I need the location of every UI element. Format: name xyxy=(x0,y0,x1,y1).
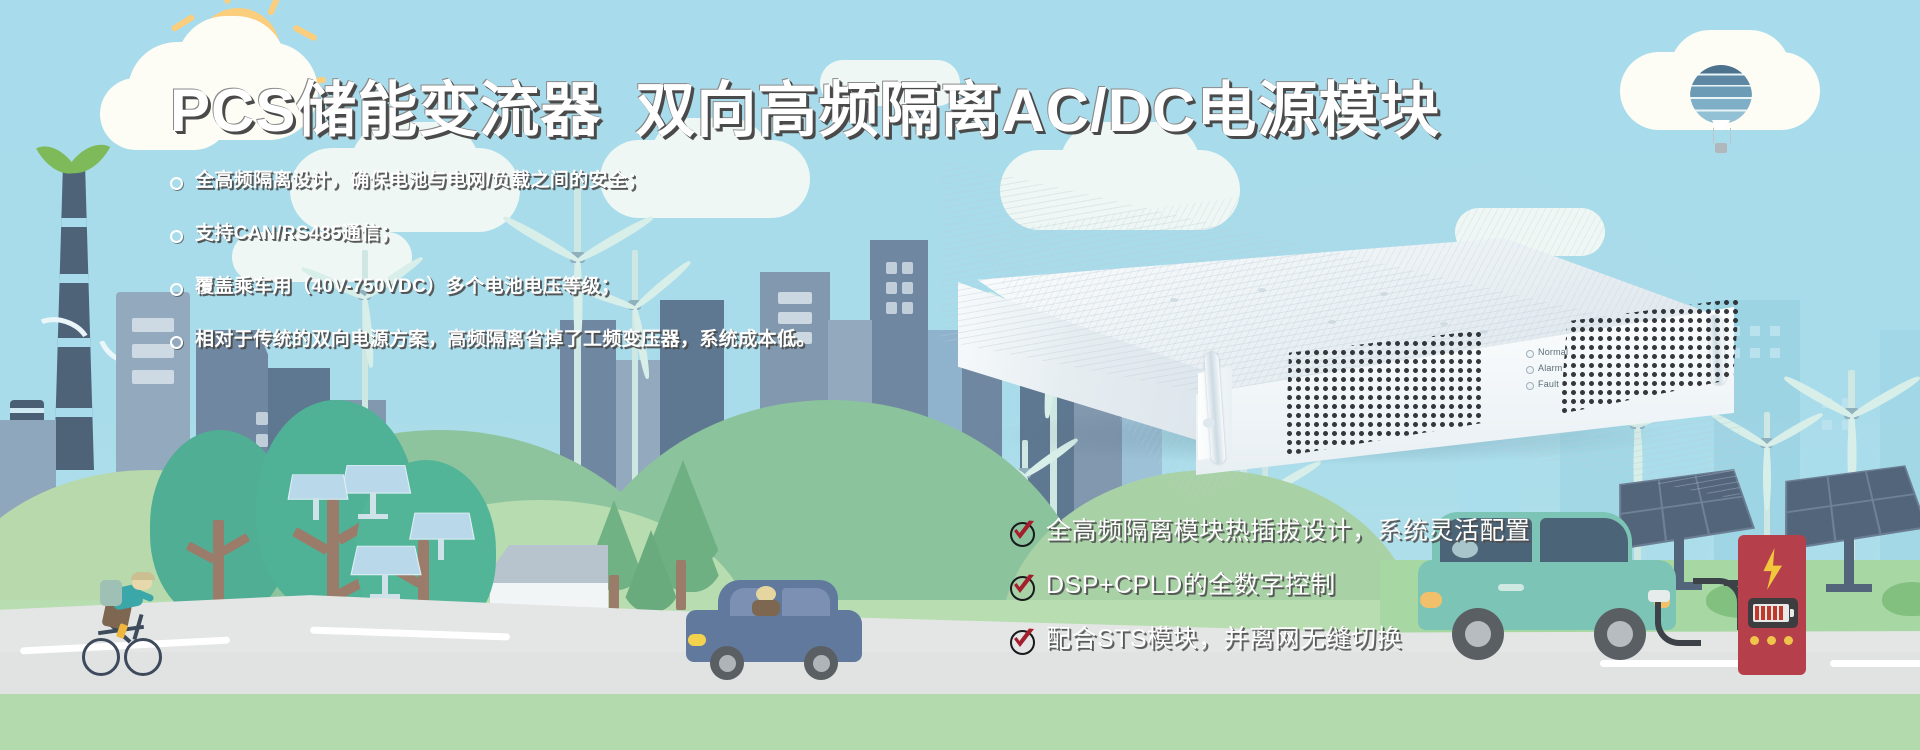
feature-text: 全高频隔离设计，确保电池与电网/负载之间的安全； xyxy=(195,168,647,193)
bullet-dot-icon xyxy=(170,336,183,349)
feature-text: 相对于传统的双向电源方案，高频隔离省掉了工频变压器，系统成本低。 xyxy=(195,327,816,352)
rack-power-module-image: Normal Alarm Fault xyxy=(940,160,1740,500)
check-mark-icon xyxy=(1012,628,1036,650)
feature-text: 覆盖乘车用（40V-750VDC）多个电池电压等级； xyxy=(195,274,620,299)
title-part-2: 双向高频隔离AC/DC电源模块 xyxy=(635,77,1440,144)
check-mark-icon xyxy=(1012,520,1036,542)
benefit-list: 全高频隔离模块热插拔设计，系统灵活配置 DSP+CPLD的全数字控制 配合STS… xyxy=(1008,518,1531,680)
promo-banner: Normal Alarm Fault PCS储能变流器双向高频隔离AC/DC电源… xyxy=(0,0,1920,750)
wheel xyxy=(804,646,838,680)
feature-text: 支持CAN/RS485通信； xyxy=(195,221,400,246)
wheel xyxy=(710,646,744,680)
list-item: 相对于传统的双向电源方案，高频隔离省掉了工频变压器，系统成本低。 xyxy=(170,327,890,352)
benefit-text: DSP+CPLD的全数字控制 xyxy=(1046,572,1336,600)
hot-air-balloon-icon xyxy=(1690,65,1752,160)
bullet-dot-icon xyxy=(170,177,183,190)
led-label-fault: Fault xyxy=(1538,379,1559,389)
check-circle-icon xyxy=(1008,572,1036,600)
check-circle-icon xyxy=(1008,626,1036,654)
bullet-dot-icon xyxy=(170,230,183,243)
list-item: 覆盖乘车用（40V-750VDC）多个电池电压等级； xyxy=(170,274,890,299)
led-label-normal: Normal xyxy=(1538,347,1568,357)
list-item: 全高频隔离模块热插拔设计，系统灵活配置 xyxy=(1008,518,1531,546)
list-item: 配合STS模块，并离网无缝切换 xyxy=(1008,626,1531,654)
wheel xyxy=(1594,608,1646,660)
bullet-dot-icon xyxy=(170,283,183,296)
check-circle-icon xyxy=(1008,518,1036,546)
list-item: 支持CAN/RS485通信； xyxy=(170,221,890,246)
list-item: 全高频隔离设计，确保电池与电网/负载之间的安全； xyxy=(170,168,890,193)
led-label-alarm: Alarm xyxy=(1538,363,1563,373)
title-part-1: PCS储能变流器 xyxy=(170,77,601,144)
page-title: PCS储能变流器双向高频隔离AC/DC电源模块 xyxy=(170,62,1440,149)
feature-list: 全高频隔离设计，确保电池与电网/负载之间的安全； 支持CAN/RS485通信； … xyxy=(170,168,890,380)
list-item: DSP+CPLD的全数字控制 xyxy=(1008,572,1531,600)
check-mark-icon xyxy=(1012,574,1036,596)
benefit-text: 配合STS模块，并离网无缝切换 xyxy=(1046,626,1402,654)
benefit-text: 全高频隔离模块热插拔设计，系统灵活配置 xyxy=(1046,518,1531,546)
